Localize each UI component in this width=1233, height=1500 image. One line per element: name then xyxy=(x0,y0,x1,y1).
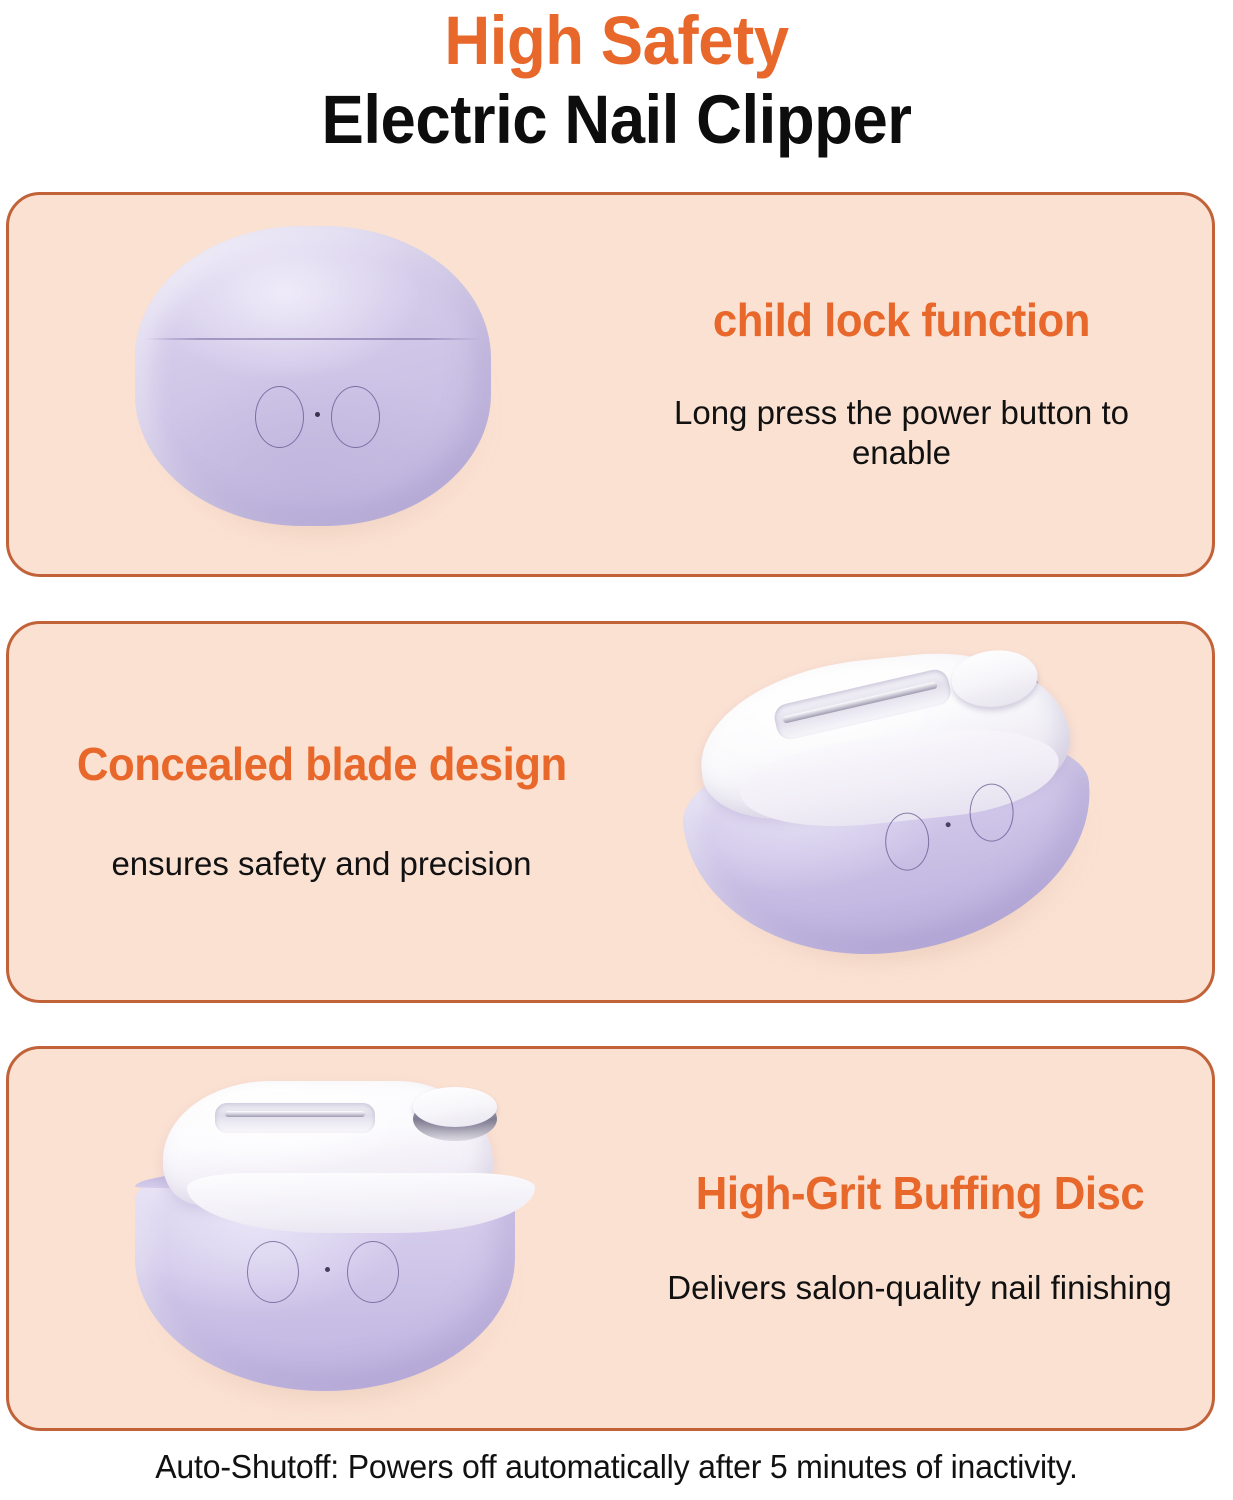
device-body xyxy=(135,226,491,526)
auto-shutoff-note: Auto-Shutoff: Powers off automatically a… xyxy=(18,1448,1214,1486)
device-top-cap xyxy=(692,640,1076,828)
product-image-buffing-disc xyxy=(9,1049,649,1428)
device-buffing-disc-icon xyxy=(413,1087,497,1127)
title-secondary: Electric Nail Clipper xyxy=(49,80,1183,160)
feature-text-child-lock: child lock function Long press the power… xyxy=(629,296,1212,473)
product-image-child-lock xyxy=(9,195,629,574)
device-closed-capsule-icon xyxy=(135,226,503,544)
feature-subtext: Delivers salon-quality nail finishing xyxy=(667,1268,1171,1308)
feature-headline: High-Grit Buffing Disc xyxy=(695,1169,1143,1218)
device-button-left-icon xyxy=(247,1241,299,1303)
feature-headline: Concealed blade design xyxy=(77,740,567,789)
feature-text-concealed-blade: Concealed blade design ensures safety an… xyxy=(9,740,612,885)
device-blade-slot-icon xyxy=(772,667,954,742)
title-primary: High Safety xyxy=(49,2,1183,80)
feature-panel-buffing-disc: High-Grit Buffing Disc Delivers salon-qu… xyxy=(6,1046,1215,1431)
feature-subtext: ensures safety and precision xyxy=(111,844,531,884)
device-blade-icon xyxy=(782,681,938,723)
device-blade-icon xyxy=(225,1111,365,1117)
feature-panel-child-lock: child lock function Long press the power… xyxy=(6,192,1215,577)
device-button-left-icon xyxy=(885,813,929,871)
device-led-indicator-icon xyxy=(315,412,320,417)
device-seam-line xyxy=(145,338,481,340)
feature-panel-concealed-blade: Concealed blade design ensures safety an… xyxy=(6,621,1215,1003)
device-open-capsule-front-icon xyxy=(129,1069,529,1409)
device-led-indicator-icon xyxy=(325,1267,330,1272)
page-title: High Safety Electric Nail Clipper xyxy=(0,0,1233,160)
device-top-cap xyxy=(163,1081,493,1205)
device-button-left-icon xyxy=(255,386,304,448)
device-button-right-icon xyxy=(347,1241,399,1303)
feature-headline: child lock function xyxy=(713,296,1090,345)
device-blade-slot-icon xyxy=(215,1103,375,1133)
product-image-concealed-blade xyxy=(612,624,1172,1000)
device-buffing-disc-icon xyxy=(949,646,1040,711)
device-button-right-icon xyxy=(970,784,1014,842)
device-button-right-icon xyxy=(331,386,380,448)
feature-subtext: Long press the power button to enable xyxy=(647,393,1156,474)
device-open-capsule-tilted-icon xyxy=(661,630,1122,993)
feature-text-buffing-disc: High-Grit Buffing Disc Delivers salon-qu… xyxy=(649,1169,1212,1308)
